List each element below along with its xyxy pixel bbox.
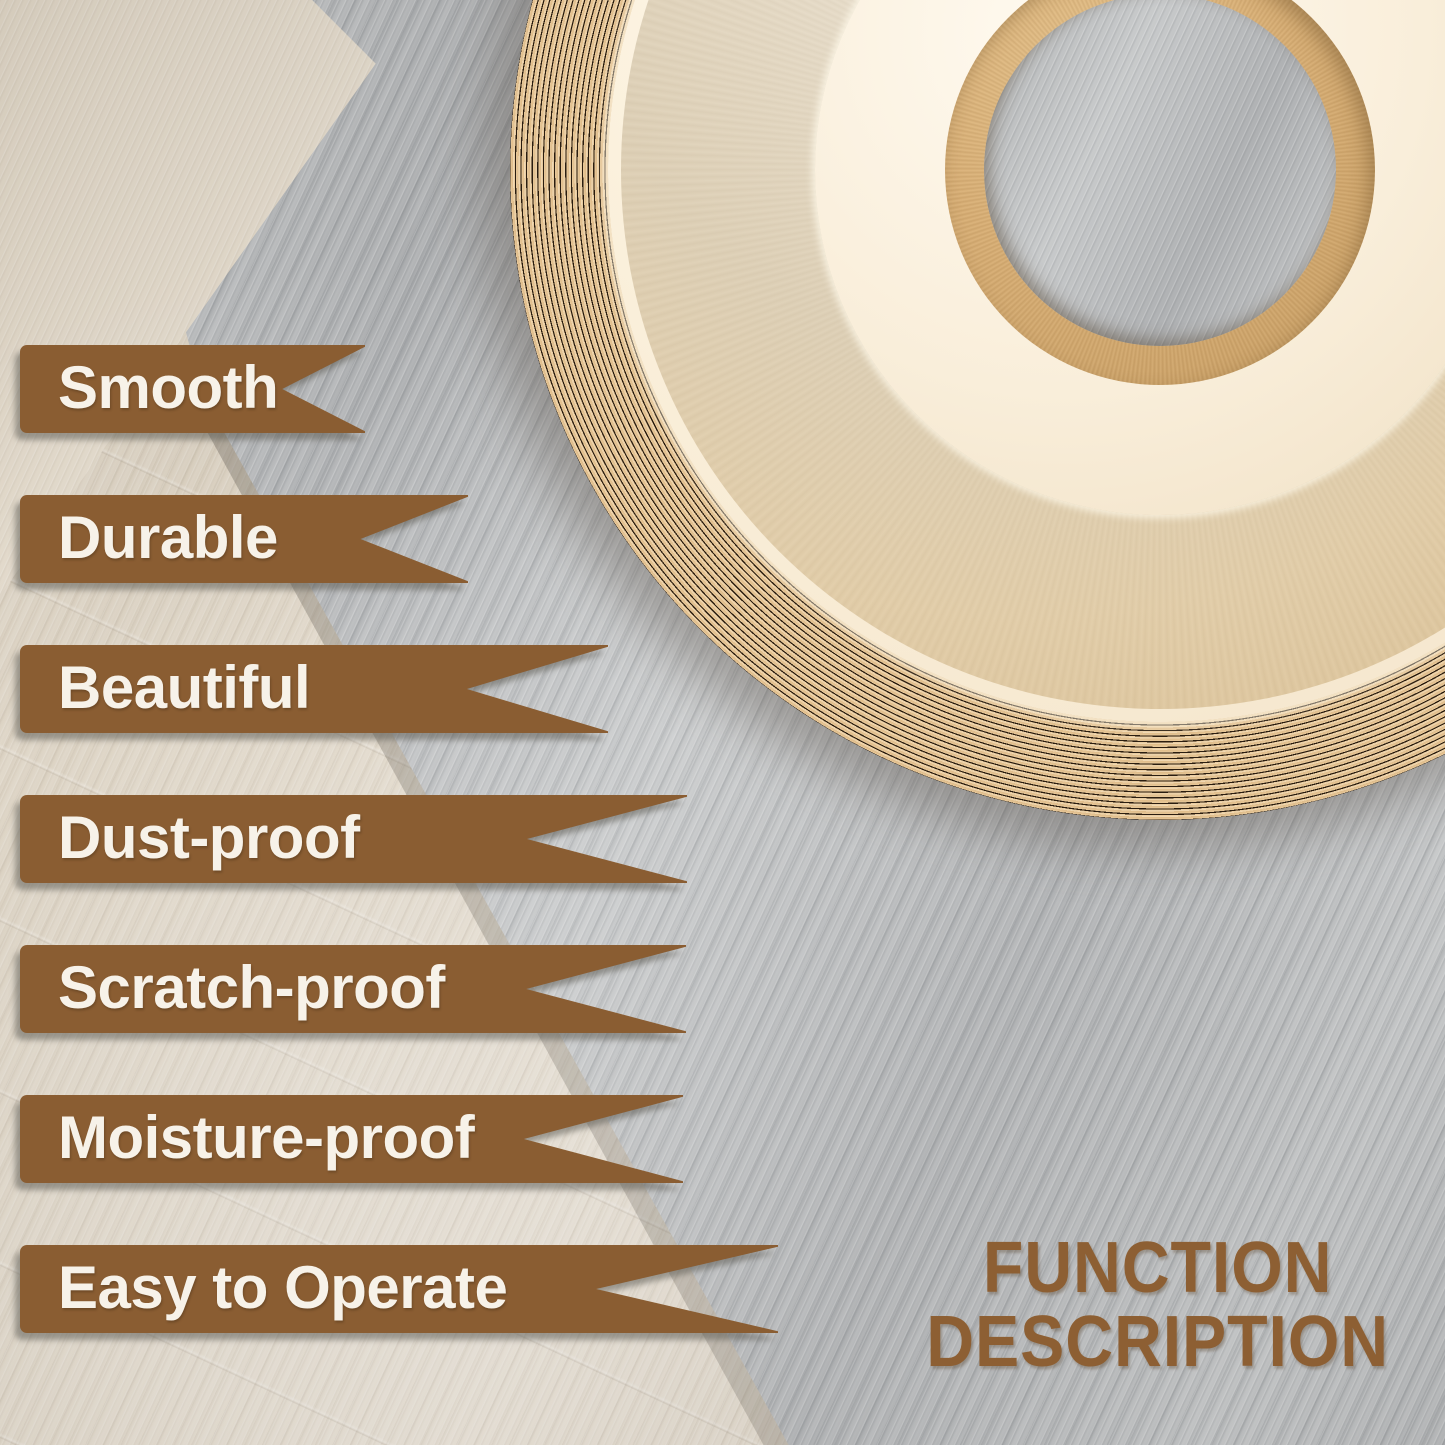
feature-banner-label: Beautiful <box>58 658 310 718</box>
feature-banner-durable[interactable]: Durable <box>20 495 468 583</box>
feature-banner-scratch-proof[interactable]: Scratch-proof <box>20 945 686 1033</box>
feature-banner-label: Durable <box>58 508 278 568</box>
feature-banner-easy-to-operate[interactable]: Easy to Operate <box>20 1245 778 1333</box>
feature-banner-beautiful[interactable]: Beautiful <box>20 645 608 733</box>
heading-line-2: DESCRIPTION <box>926 1306 1389 1379</box>
feature-banner-dust-proof[interactable]: Dust-proof <box>20 795 687 883</box>
heading-line-1: FUNCTION <box>926 1232 1389 1305</box>
feature-banner-label: Scratch-proof <box>58 958 445 1018</box>
feature-banner-label: Easy to Operate <box>58 1258 507 1318</box>
feature-banner-list: Smooth Durable Beautiful Dust-proof Scra… <box>20 345 800 1395</box>
feature-banner-label: Dust-proof <box>58 808 360 868</box>
feature-banner-moisture-proof[interactable]: Moisture-proof <box>20 1095 683 1183</box>
feature-banner-label: Moisture-proof <box>58 1108 474 1168</box>
section-heading: FUNCTION DESCRIPTION <box>886 1232 1389 1379</box>
feature-banner-smooth[interactable]: Smooth <box>20 345 365 433</box>
feature-banner-label: Smooth <box>58 358 278 418</box>
infographic-canvas: Smooth Durable Beautiful Dust-proof Scra… <box>0 0 1445 1445</box>
